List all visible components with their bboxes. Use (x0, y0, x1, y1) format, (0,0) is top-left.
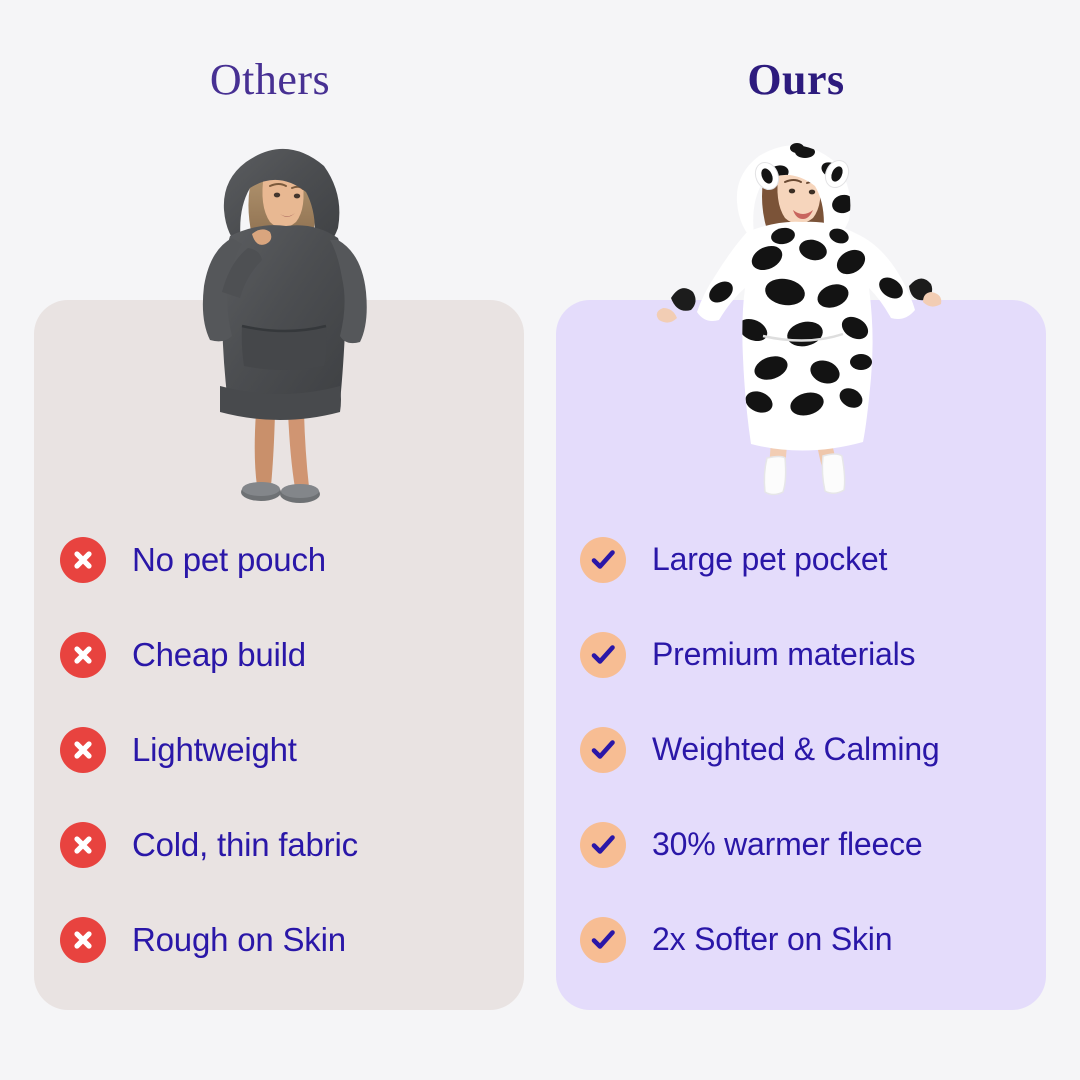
feature-label: 2x Softer on Skin (652, 921, 892, 958)
feature-row: Premium materials (580, 607, 1040, 702)
column-title-ours: Ours (536, 58, 1056, 102)
check-icon (580, 727, 626, 773)
feature-list-ours: Large pet pocket Premium materials Weigh… (580, 512, 1040, 987)
cross-icon (60, 727, 106, 773)
check-icon (580, 822, 626, 868)
feature-row: Cold, thin fabric (60, 797, 520, 892)
feature-row: 2x Softer on Skin (580, 892, 1040, 987)
feature-label: No pet pouch (132, 541, 326, 579)
check-icon (580, 537, 626, 583)
feature-list-others: No pet pouch Cheap build Lightweight (60, 512, 520, 987)
check-icon (580, 632, 626, 678)
feature-row: Rough on Skin (60, 892, 520, 987)
cross-icon (60, 632, 106, 678)
cross-icon (60, 917, 106, 963)
feature-row: No pet pouch (60, 512, 520, 607)
comparison-infographic: Others Ours (0, 0, 1080, 1080)
feature-row: 30% warmer fleece (580, 797, 1040, 892)
column-title-others: Others (10, 58, 530, 102)
feature-label: Rough on Skin (132, 921, 346, 959)
cross-icon (60, 822, 106, 868)
feature-row: Large pet pocket (580, 512, 1040, 607)
feature-label: Lightweight (132, 731, 297, 769)
cross-icon (60, 537, 106, 583)
feature-label: Weighted & Calming (652, 731, 940, 768)
feature-label: Large pet pocket (652, 541, 887, 578)
feature-label: 30% warmer fleece (652, 826, 923, 863)
feature-label: Cold, thin fabric (132, 826, 358, 864)
check-icon (580, 917, 626, 963)
feature-row: Weighted & Calming (580, 702, 1040, 797)
feature-row: Lightweight (60, 702, 520, 797)
feature-row: Cheap build (60, 607, 520, 702)
feature-label: Cheap build (132, 636, 306, 674)
feature-label: Premium materials (652, 636, 915, 673)
